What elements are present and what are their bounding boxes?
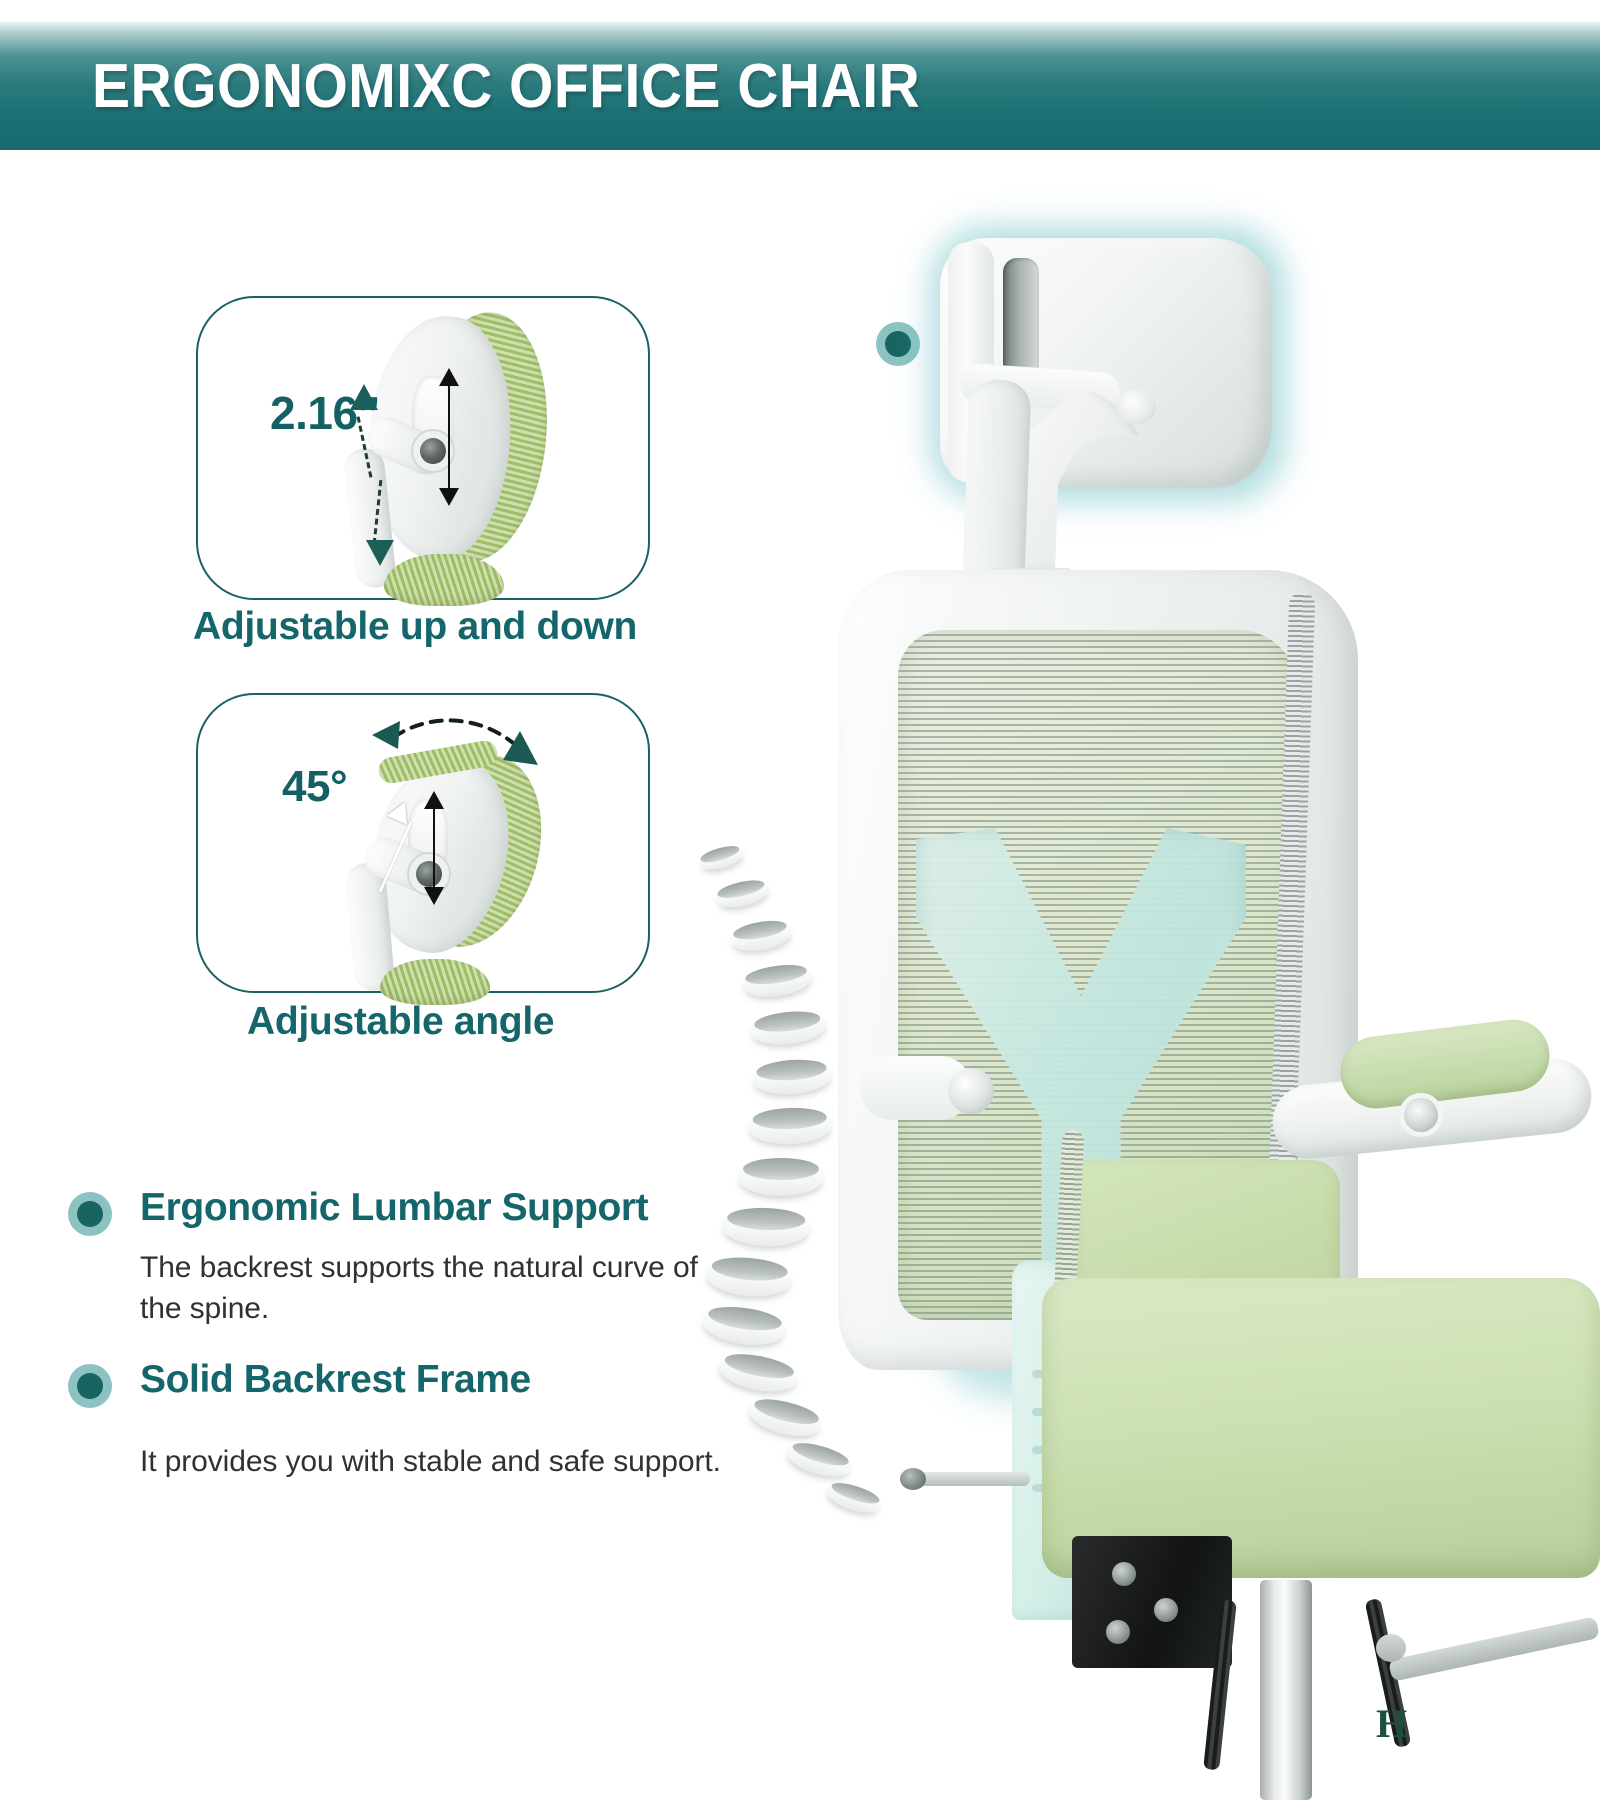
feature-description-lumbar-support: The backrest supports the natural curve … xyxy=(140,1248,700,1329)
headrest-vertical-adjust-icon xyxy=(198,298,652,602)
travel-indicator-line xyxy=(448,384,450,494)
feature-box-adjustable-up-down: 2.16” xyxy=(196,296,650,600)
seat-cushion xyxy=(1042,1278,1600,1578)
tilt-indicator-arrow-down-icon xyxy=(424,887,444,905)
bullet-dot-icon xyxy=(68,1364,112,1408)
spine-disc xyxy=(749,1008,828,1048)
headrest-tilt-angle-icon xyxy=(198,695,652,995)
headrest-pivot-icon xyxy=(416,861,442,887)
page-title: ERGONOMIXC OFFICE CHAIR xyxy=(92,51,920,122)
height-adjust-lever[interactable] xyxy=(1388,1616,1600,1682)
header-banner: ERGONOMIXC OFFICE CHAIR xyxy=(0,22,1600,150)
base-arm-cap xyxy=(900,1468,926,1490)
adjust-arrow-down-icon xyxy=(366,540,394,566)
bracket-screw xyxy=(1154,1598,1178,1622)
feature-caption-adjustable-up-down: Adjustable up and down xyxy=(193,605,637,649)
headrest-stalk xyxy=(963,379,1032,581)
rotation-arc-arrow-icon xyxy=(370,713,550,793)
feature-title-lumbar-support: Ergonomic Lumbar Support xyxy=(140,1186,648,1230)
feature-caption-adjustable-angle: Adjustable angle xyxy=(247,1000,554,1044)
tilt-indicator-line xyxy=(433,807,435,893)
spine-disc xyxy=(700,1302,788,1349)
spine-disc xyxy=(705,1254,794,1299)
spine-disc xyxy=(738,1158,824,1196)
spine-disc xyxy=(713,876,771,912)
headrest-lower-mesh xyxy=(384,554,504,606)
spine-disc xyxy=(715,1349,800,1398)
spine-disc xyxy=(696,842,746,874)
headrest-hook-tip xyxy=(1116,390,1156,424)
feature-title-backrest-frame: Solid Backrest Frame xyxy=(140,1358,531,1402)
lever-end-cap xyxy=(1376,1634,1406,1662)
travel-indicator-arrow-up-icon xyxy=(439,368,459,386)
armrest-hinge xyxy=(948,1068,994,1114)
tilt-indicator-arrow-up-icon xyxy=(424,791,444,809)
bracket-screw xyxy=(1106,1620,1130,1644)
armrest-adjust-knob[interactable] xyxy=(1404,1098,1438,1132)
travel-indicator-arrow-down-icon xyxy=(439,488,459,506)
product-image-office-chair: H xyxy=(820,200,1600,1600)
seat-mechanism-bracket xyxy=(1072,1536,1232,1668)
measurement-label-height: 2.16” xyxy=(270,386,380,440)
base-arm-rod xyxy=(910,1472,1030,1486)
feature-box-adjustable-angle: 45° xyxy=(196,693,650,993)
bracket-screw xyxy=(1112,1562,1136,1586)
bullet-dot-icon xyxy=(68,1192,112,1236)
spine-disc xyxy=(728,917,794,955)
gas-lift-cylinder xyxy=(1260,1580,1312,1800)
spine-disc xyxy=(745,1394,825,1443)
spine-disc xyxy=(721,1206,810,1247)
measurement-label-angle: 45° xyxy=(282,762,347,812)
headrest-pivot-icon xyxy=(420,438,446,464)
headrest-lower-mesh xyxy=(380,959,490,1005)
brand-logo-icon: H xyxy=(1376,1700,1436,1758)
spine-disc xyxy=(740,961,813,1000)
